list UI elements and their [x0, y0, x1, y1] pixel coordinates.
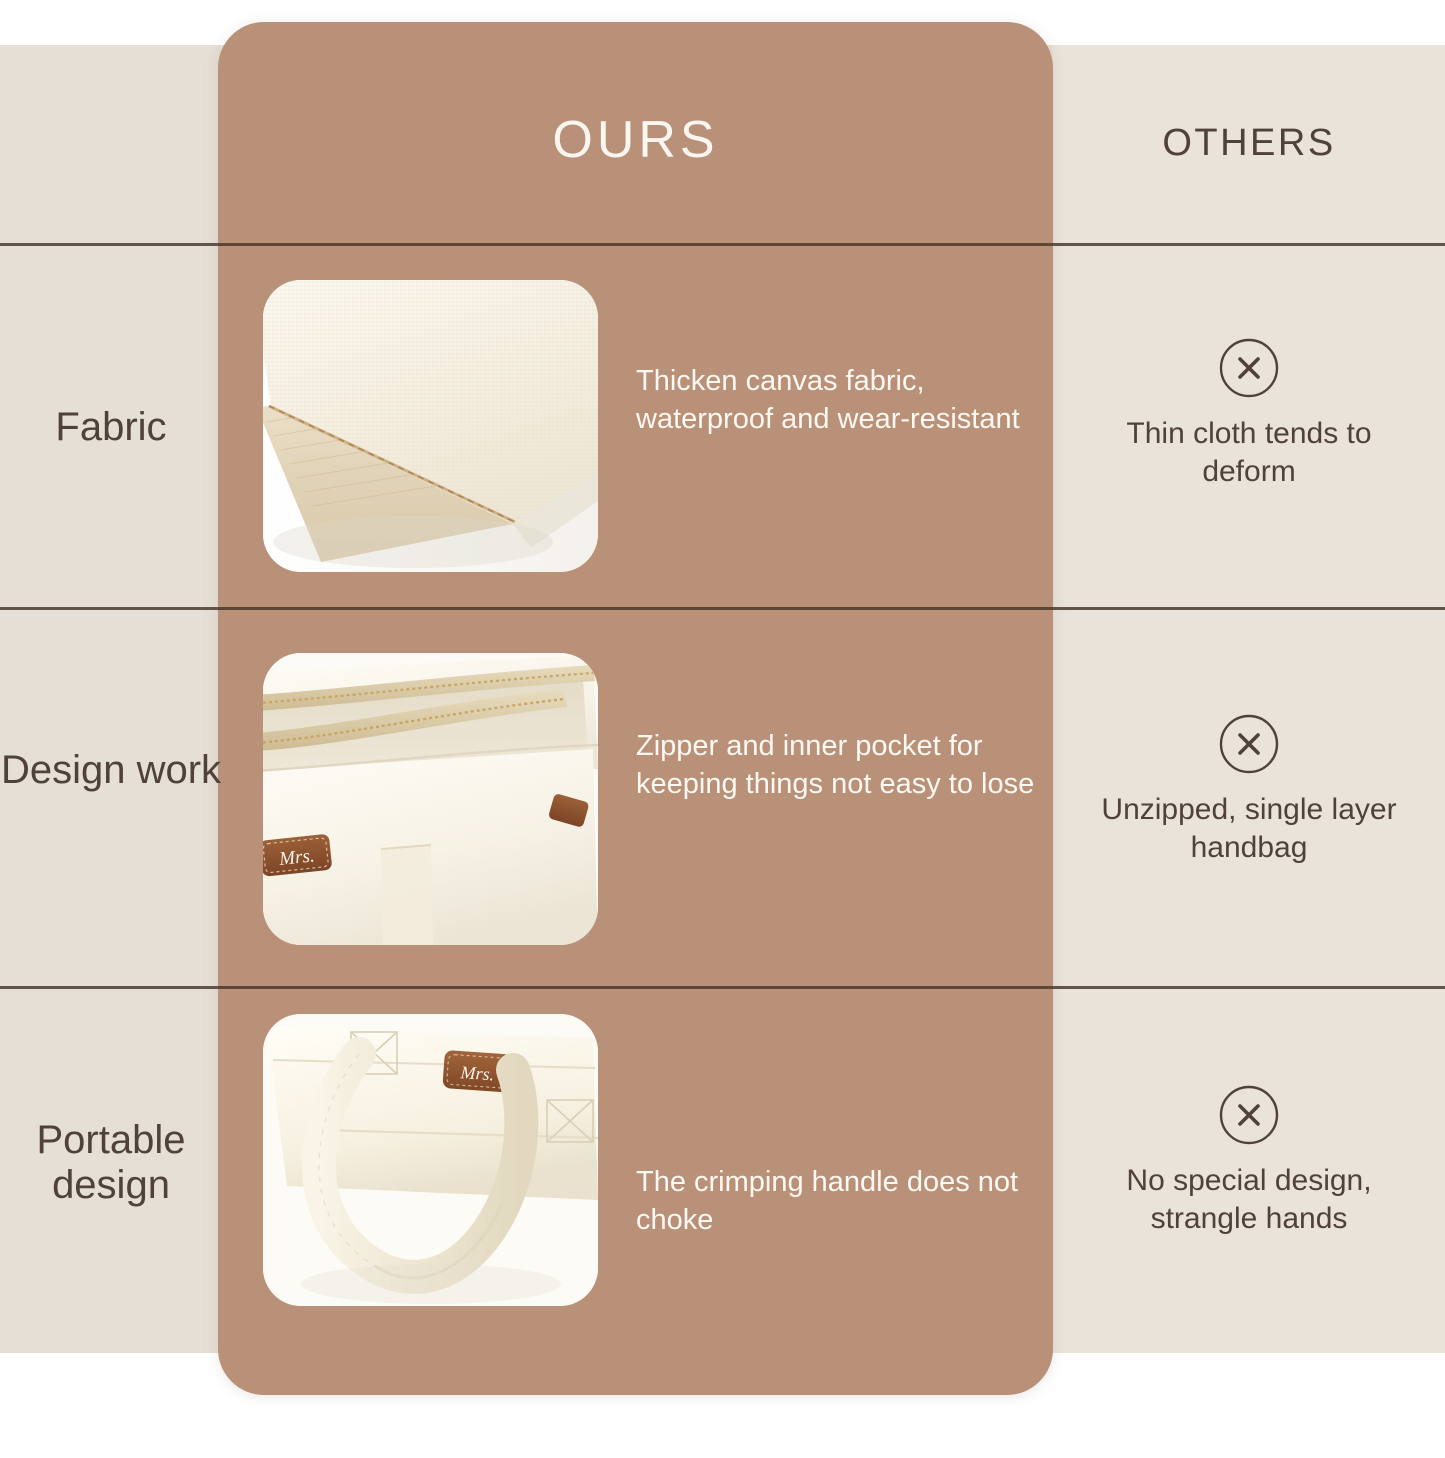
- category-label-fabric: Fabric: [0, 405, 222, 450]
- handle-illustration: Mrs.: [263, 1014, 598, 1306]
- others-text-fabric: Thin cloth tends to deform: [1053, 415, 1445, 491]
- svg-text:Mrs.: Mrs.: [277, 845, 315, 870]
- others-text-design-work: Unzipped, single layer handbag: [1053, 791, 1445, 867]
- leather-tag-mrs: Mrs.: [263, 834, 332, 877]
- others-text-portable-design: No special design, strangle hands: [1053, 1162, 1445, 1238]
- comparison-infographic: OURS OTHERS Fabric Design work Portable …: [0, 0, 1445, 1458]
- others-cell-design-work: Unzipped, single layer handbag: [1053, 713, 1445, 867]
- ours-description-design-work: Zipper and inner pocket for keeping thin…: [636, 727, 1036, 804]
- ours-header-title: OURS: [218, 110, 1053, 170]
- row-divider-3-overlay: [218, 986, 1053, 989]
- fabric-illustration: [263, 280, 598, 572]
- row-divider-2-overlay: [218, 607, 1053, 610]
- circle-x-icon: [1218, 713, 1280, 775]
- category-label-design-work: Design work: [0, 748, 222, 793]
- others-header-title: OTHERS: [1053, 122, 1445, 165]
- ours-image-handle: Mrs.: [263, 1014, 598, 1306]
- ours-image-fabric: [263, 280, 598, 572]
- circle-x-icon: [1218, 337, 1280, 399]
- svg-text:Mrs.: Mrs.: [459, 1062, 495, 1084]
- others-cell-fabric: Thin cloth tends to deform: [1053, 337, 1445, 491]
- ours-description-portable-design: The crimping handle does not choke: [636, 1163, 1036, 1240]
- ours-description-fabric: Thicken canvas fabric, waterproof and we…: [636, 362, 1036, 439]
- others-cell-portable-design: No special design, strangle hands: [1053, 1084, 1445, 1238]
- zipper-pocket-illustration: Mrs.: [263, 653, 598, 945]
- category-label-portable-design: Portable design: [0, 1118, 222, 1208]
- row-divider-1-overlay: [218, 243, 1053, 246]
- ours-image-zipper-pocket: Mrs.: [263, 653, 598, 945]
- circle-x-icon: [1218, 1084, 1280, 1146]
